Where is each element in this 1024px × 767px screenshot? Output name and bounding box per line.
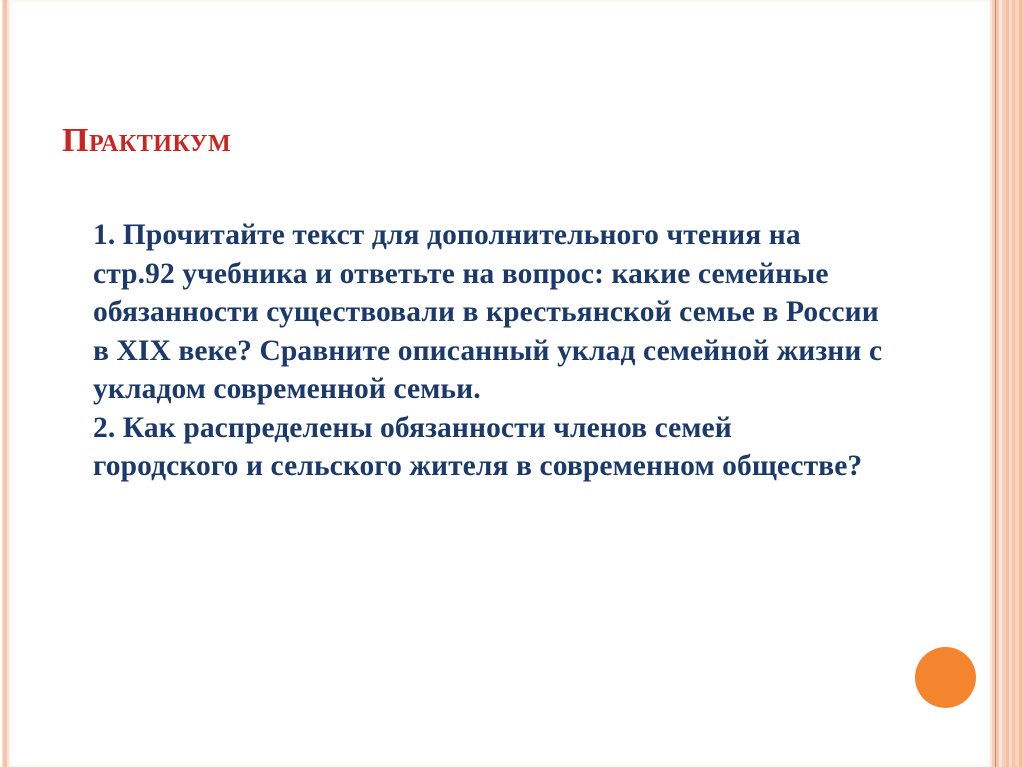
left-decorative-stripes [0,0,14,767]
right-stripe-10 [1019,0,1022,767]
left-stripe-2 [7,0,9,767]
task-item-2: 2. Как распределены обязанности членов с… [93,409,883,486]
right-stripe-8 [1012,0,1015,767]
right-stripe-2 [995,0,996,767]
page-title: Практикум [62,123,231,159]
right-stripe-0 [990,0,992,767]
slide-canvas: Практикум 1. Прочитайте текст для дополн… [0,0,1024,767]
right-stripe-1 [992,0,995,767]
right-stripe-6 [1006,0,1009,767]
task-item-1: 1. Прочитайте текст для дополнительного … [93,216,883,409]
right-stripe-5 [1002,0,1006,767]
orange-accent-circle [915,647,976,708]
top-edge-hairline [0,0,1024,2]
right-stripe-7 [1009,0,1012,767]
left-stripe-0 [2,0,3,767]
right-decorative-stripes [990,0,1024,767]
task-list: 1. Прочитайте текст для дополнительного … [93,216,883,486]
right-stripe-3 [996,0,999,767]
left-stripe-3 [9,0,10,767]
right-stripe-9 [1015,0,1019,767]
right-stripe-4 [999,0,1002,767]
left-stripe-1 [3,0,7,767]
